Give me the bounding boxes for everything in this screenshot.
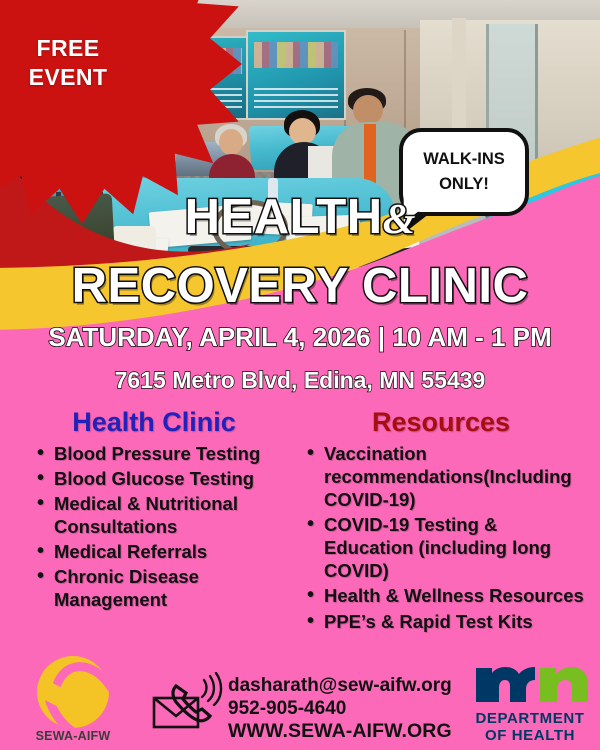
envelope-phone-icons: [152, 672, 224, 730]
contact-icons: [152, 672, 224, 730]
services-columns: Health Clinic Blood Pressure Testing Blo…: [0, 408, 600, 648]
event-address: 7615 Metro Blvd, Edina, MN 55439: [0, 367, 600, 394]
contact-email[interactable]: dasharath@sew-aifw.org: [228, 674, 452, 697]
mn-wordmark-icon: [470, 658, 590, 704]
free-event-line2: EVENT: [12, 63, 124, 92]
list-item: Medical & Nutritional Consultations: [54, 492, 284, 538]
contact-details: dasharath@sew-aifw.org 952-905-4640 WWW.…: [228, 674, 452, 744]
list-item: Chronic Disease Management: [54, 565, 284, 611]
mn-n-letter: [540, 667, 588, 702]
resources-list: Vaccination recommendations(Including CO…: [294, 442, 588, 633]
list-item: Health & Wellness Resources: [324, 584, 588, 607]
free-event-label: FREE EVENT: [12, 34, 124, 93]
mdh-line2: OF HEALTH: [470, 728, 590, 745]
mdh-label: DEPARTMENT OF HEALTH: [470, 711, 590, 745]
sewa-swirl-icon: [37, 656, 109, 728]
mn-m-letter: [476, 667, 535, 702]
flyer-poster: FREE EVENT WALK-INS ONLY! HEALTH& RECOVE…: [0, 0, 600, 750]
list-item: Blood Glucose Testing: [54, 467, 284, 490]
contact-phone[interactable]: 952-905-4640: [228, 697, 452, 720]
sewa-aifw-logo: SEWA-AIFW: [30, 656, 116, 743]
health-clinic-heading: Health Clinic: [24, 408, 284, 438]
page-title-line1: HEALTH&: [0, 193, 600, 242]
event-datetime: SATURDAY, APRIL 4, 2026 | 10 AM - 1 PM: [0, 322, 600, 353]
list-item: Vaccination recommendations(Including CO…: [324, 442, 588, 511]
list-item: PPE’s & Rapid Test Kits: [324, 610, 588, 633]
title-ampersand: &: [383, 197, 416, 243]
sewa-logo-label: SEWA-AIFW: [30, 729, 116, 743]
phone-ring-waves: [202, 673, 221, 705]
free-event-line1: FREE: [12, 34, 124, 63]
list-item: COVID-19 Testing & Education (including …: [324, 513, 588, 582]
mdh-line1: DEPARTMENT: [470, 711, 590, 728]
list-item: Blood Pressure Testing: [54, 442, 284, 465]
health-clinic-column: Health Clinic Blood Pressure Testing Blo…: [0, 408, 290, 648]
footer: SEWA-AIFW dasharath@sew-aifw.org: [0, 648, 600, 750]
contact-website[interactable]: WWW.SEWA-AIFW.ORG: [228, 720, 452, 744]
page-title-line2: RECOVERY CLINIC: [0, 262, 600, 311]
walk-ins-line1: WALK-INS: [423, 147, 505, 172]
list-item: Medical Referrals: [54, 540, 284, 563]
title-health: HEALTH: [185, 190, 383, 244]
health-clinic-list: Blood Pressure Testing Blood Glucose Tes…: [24, 442, 284, 612]
resources-column: Resources Vaccination recommendations(In…: [290, 408, 600, 648]
resources-heading: Resources: [294, 408, 588, 438]
mdh-logo: DEPARTMENT OF HEALTH: [470, 658, 590, 745]
